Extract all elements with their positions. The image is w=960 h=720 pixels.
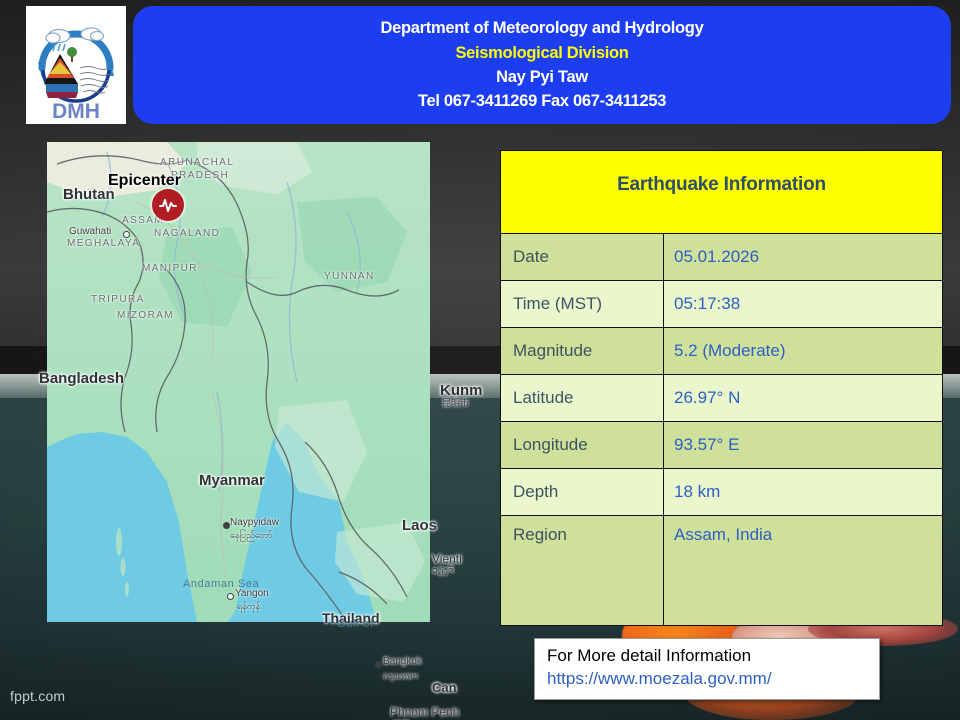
row-label-longitude: Longitude [501,422,664,469]
city-dot-guwahati [123,231,130,238]
row-label-date: Date [501,234,664,281]
header-line-4: Tel 067-3411269 Fax 067-3411253 [418,90,666,112]
header-line-2: Seismological Division [455,42,628,64]
table-row-magnitude: Magnitude 5.2 (Moderate) [501,328,943,375]
table-row-region: Region Assam, India [501,516,943,626]
more-info-text: For More detail Information [547,645,879,668]
epicenter-marker-icon[interactable] [152,189,184,221]
row-value-date: 05.01.2026 [664,234,943,281]
row-label-latitude: Latitude [501,375,664,422]
table-title: Earthquake Information [501,151,943,234]
row-value-time: 05:17:38 [664,281,943,328]
header-line-1: Department of Meteorology and Hydrology [381,17,704,39]
row-label-time: Time (MST) [501,281,664,328]
more-info-box: For More detail Information https://www.… [534,638,880,700]
header-line-3: Nay Pyi Taw [496,66,588,88]
table-title-row: Earthquake Information [501,151,943,234]
more-info-link[interactable]: https://www.moezala.gov.mm/ [547,668,879,691]
earthquake-info-table: Earthquake Information Date 05.01.2026 T… [500,150,943,626]
header-banner: Department of Meteorology and Hydrology … [133,6,951,124]
row-value-latitude: 26.97° N [664,375,943,422]
table-row-longitude: Longitude 93.57° E [501,422,943,469]
table-row-time: Time (MST) 05:17:38 [501,281,943,328]
table-row-latitude: Latitude 26.97° N [501,375,943,422]
table-row-date: Date 05.01.2026 [501,234,943,281]
watermark: fppt.com [10,688,65,704]
slide-canvas: DMH Department of Meteorology and Hydrol… [0,0,960,720]
logo-text: DMH [52,100,100,123]
epicenter-map[interactable] [47,142,430,622]
dmh-logo: DMH [26,6,126,124]
city-dot-bangkok [375,661,382,668]
row-value-magnitude: 5.2 (Moderate) [664,328,943,375]
row-label-depth: Depth [501,469,664,516]
row-value-longitude: 93.57° E [664,422,943,469]
epicenter-label: Epicenter [108,172,181,190]
row-label-region: Region [501,516,664,626]
city-dot-yangon [227,593,234,600]
row-value-depth: 18 km [664,469,943,516]
row-value-region: Assam, India [664,516,943,626]
table-row-depth: Depth 18 km [501,469,943,516]
city-dot-naypyidaw [223,522,230,529]
row-label-magnitude: Magnitude [501,328,664,375]
